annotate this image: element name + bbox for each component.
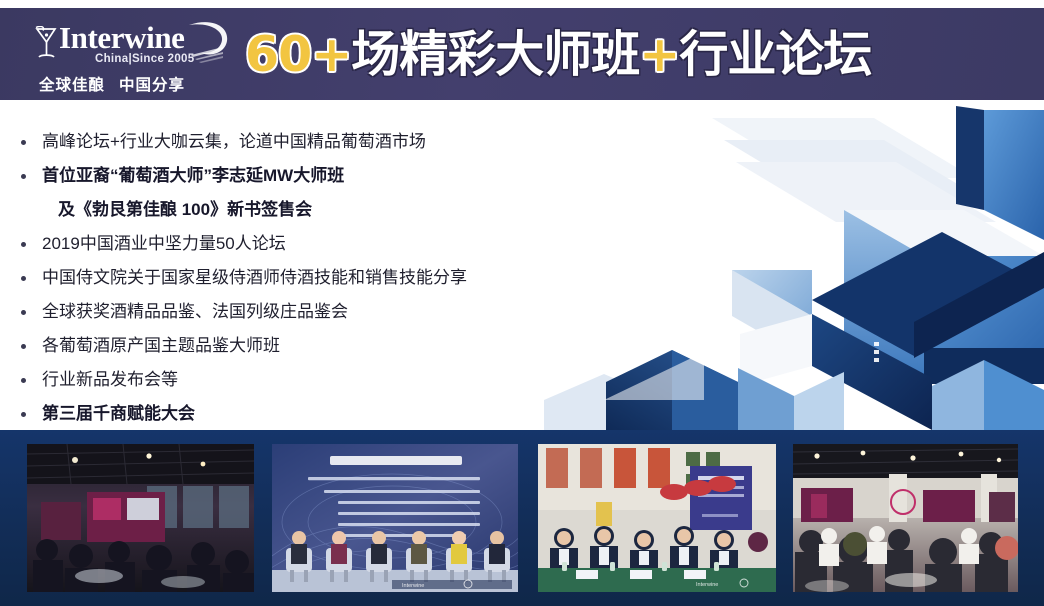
list-item: 全球获奖酒精品品鉴、法国列级庄品鉴会 — [16, 297, 616, 326]
logo-wordmark: Interwine — [59, 21, 185, 55]
list-item: 首位亚裔“葡萄酒大师”李志延MW大师班 — [16, 161, 616, 190]
interwine-logo: Interwine China|Since 2005 全球佳酿中国分享 — [33, 21, 218, 99]
page-title: 60+场精彩大师班+行业论坛 — [245, 24, 1035, 86]
logo-subtitle: China|Since 2005 — [95, 53, 194, 65]
content-area: 高峰论坛+行业大咖云集，论道中国精品葡萄酒市场 首位亚裔“葡萄酒大师”李志延MW… — [0, 100, 1044, 430]
exhibition-hall-tasting-photo — [793, 444, 1018, 592]
title-part-two: 行业论坛 — [679, 26, 871, 83]
list-item: 中国侍文院关于国家星级侍酒师侍酒技能和销售技能分享 — [16, 263, 616, 292]
list-item: 高峰论坛+行业大咖云集，论道中国精品葡萄酒市场 — [16, 127, 616, 156]
poster-canvas: Interwine China|Since 2005 全球佳酿中国分享 60+场… — [0, 0, 1044, 606]
photo-gallery-strip: Interwine — [0, 430, 1044, 606]
feature-bullet-list: 高峰论坛+行业大咖云集，论道中国精品葡萄酒市场 首位亚裔“葡萄酒大师”李志延MW… — [16, 127, 616, 430]
logo-tagline-right: 中国分享 — [119, 77, 185, 94]
masterclass-audience-photo — [27, 444, 254, 592]
header-band: Interwine China|Since 2005 全球佳酿中国分享 60+场… — [0, 8, 1044, 100]
list-item: 及《勃艮第佳酿 100》新书签售会 — [16, 195, 616, 224]
title-plus-two: + — [639, 26, 679, 83]
title-plus-one: + — [311, 26, 351, 83]
photo-watermark: Interwine — [402, 583, 424, 589]
title-part-one: 场精彩大师班 — [351, 26, 639, 83]
list-item: 各葡萄酒原产国主题品鉴大师班 — [16, 331, 616, 360]
list-item: 第三届千商赋能大会 — [16, 399, 616, 428]
logo-wordmark-row: Interwine China|Since 2005 — [33, 21, 218, 69]
logo-tagline-left: 全球佳酿 — [39, 77, 105, 94]
conference-delegates-photo: Interwine — [538, 444, 776, 592]
list-item: 2019中国酒业中坚力量50人论坛 — [16, 229, 616, 258]
panel-forum-stage-photo: Interwine — [272, 444, 518, 592]
isometric-blocks-pattern — [544, 100, 1044, 430]
title-number: 60 — [245, 26, 311, 83]
swoosh-icon — [183, 19, 231, 71]
list-item: 行业新品发布会等 — [16, 365, 616, 394]
wine-glass-icon — [33, 26, 59, 62]
photo-watermark: Interwine — [696, 582, 718, 588]
logo-tagline: 全球佳酿中国分享 — [39, 73, 185, 95]
